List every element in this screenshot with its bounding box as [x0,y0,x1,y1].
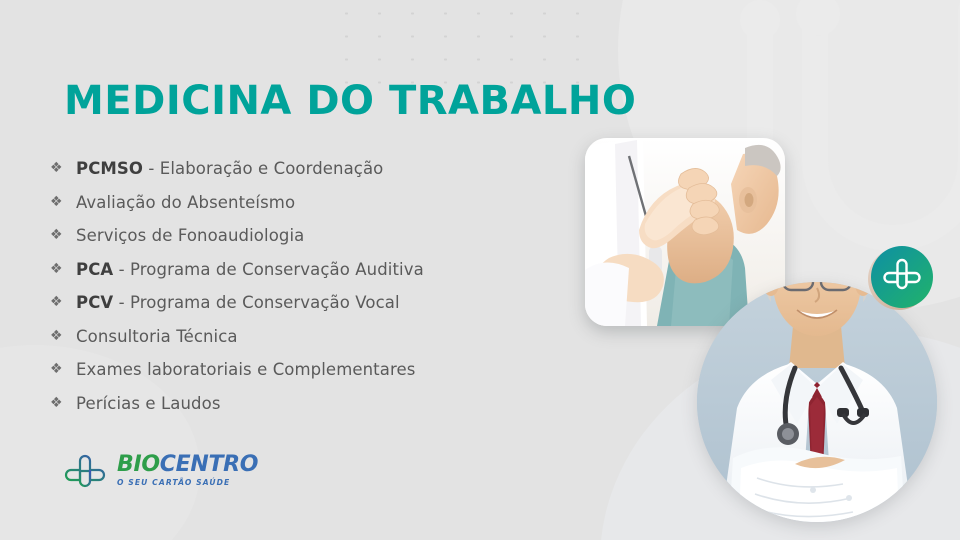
logo-name-second: CENTRO [160,452,258,477]
list-item-label: Exames laboratoriais e Complementares [76,353,415,387]
list-item: ❖ PCA - Programa de Conservação Auditiva [50,253,570,287]
list-item-rest: Serviços de Fonoaudiologia [76,226,304,245]
list-item-rest: Perícias e Laudos [76,394,221,413]
logo-tagline: O SEU CARTÃO SAÚDE [117,479,258,487]
doctor-photo [697,282,937,522]
services-list: ❖ PCMSO - Elaboração e Coordenação ❖ Ava… [50,152,570,420]
diamond-bullet-icon: ❖ [50,219,76,253]
diamond-bullet-icon: ❖ [50,152,76,186]
list-item-label: Consultoria Técnica [76,320,238,354]
logo-name: BIOCENTRO [117,454,258,476]
list-item-rest: - Programa de Conservação Vocal [113,293,399,312]
page-title: MEDICINA DO TRABALHO [64,78,636,124]
list-item: ❖ Avaliação do Absenteísmo [50,186,570,220]
biocentro-cross-icon [62,450,108,490]
diamond-bullet-icon: ❖ [50,286,76,320]
list-item-strong: PCV [76,293,113,312]
list-item: ❖ Perícias e Laudos [50,387,570,421]
doctor-photo-illustration [697,282,937,522]
list-item-rest: - Programa de Conservação Auditiva [113,260,424,279]
diamond-bullet-icon: ❖ [50,186,76,220]
list-item-strong: PCA [76,260,113,279]
list-item: ❖ Exames laboratoriais e Complementares [50,353,570,387]
list-item-rest: Consultoria Técnica [76,327,238,346]
slide-medicina-do-trabalho: MEDICINA DO TRABALHO ❖ PCMSO - Elaboraçã… [0,0,960,540]
list-item-strong: PCMSO [76,159,143,178]
list-item: ❖ Consultoria Técnica [50,320,570,354]
list-item: ❖ Serviços de Fonoaudiologia [50,219,570,253]
list-item: ❖ PCV - Programa de Conservação Vocal [50,286,570,320]
list-item-label: PCA - Programa de Conservação Auditiva [76,253,424,287]
list-item-rest: Exames laboratoriais e Complementares [76,360,415,379]
list-item-rest: Avaliação do Absenteísmo [76,193,295,212]
logo-wordmark: BIOCENTRO O SEU CARTÃO SAÚDE [117,454,258,487]
list-item: ❖ PCMSO - Elaboração e Coordenação [50,152,570,186]
biocentro-badge-icon [866,243,936,313]
list-item-rest: - Elaboração e Coordenação [143,159,383,178]
logo-name-first: BIO [117,452,160,477]
diamond-bullet-icon: ❖ [50,253,76,287]
diamond-bullet-icon: ❖ [50,320,76,354]
list-item-label: PCV - Programa de Conservação Vocal [76,286,400,320]
biocentro-logo: BIOCENTRO O SEU CARTÃO SAÚDE [62,450,258,490]
diamond-bullet-icon: ❖ [50,353,76,387]
diamond-bullet-icon: ❖ [50,387,76,421]
list-item-label: PCMSO - Elaboração e Coordenação [76,152,383,186]
list-item-label: Avaliação do Absenteísmo [76,186,295,220]
list-item-label: Perícias e Laudos [76,387,221,421]
list-item-label: Serviços de Fonoaudiologia [76,219,304,253]
